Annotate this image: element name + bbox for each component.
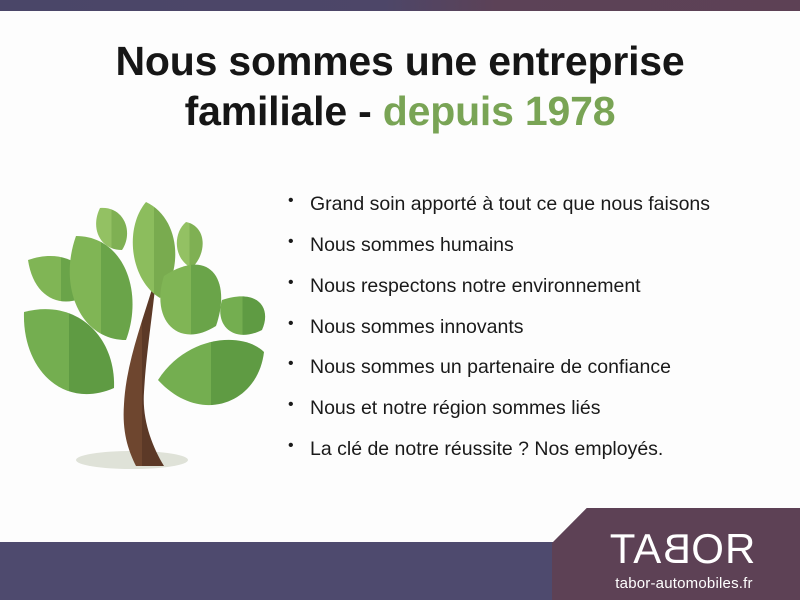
brand-wordmark-reversed-b: B — [662, 528, 691, 570]
list-item: Grand soin apporté à tout ce que nous fa… — [286, 192, 766, 217]
brand-logo-panel[interactable]: TABOR tabor-automobiles.fr — [552, 508, 800, 600]
page-title-line1: Nous sommes une entreprise — [116, 38, 685, 84]
list-item: Nous sommes humains — [286, 233, 766, 258]
list-item: Nous sommes innovants — [286, 315, 766, 340]
brand-wordmark-part2: OR — [691, 528, 756, 570]
tree-illustration — [14, 188, 280, 484]
brand-wordmark-part1: TA — [610, 528, 663, 570]
page-title: Nous sommes une entreprise familiale - d… — [0, 36, 800, 136]
benefits-list: Grand soin apporté à tout ce que nous fa… — [286, 192, 766, 478]
top-accent-bar — [0, 0, 800, 11]
list-item: Nous respectons notre environnement — [286, 274, 766, 299]
page-title-line2: familiale - — [185, 88, 383, 134]
slide-canvas: Nous sommes une entreprise familiale - d… — [0, 0, 800, 600]
brand-wordmark: TABOR — [596, 528, 757, 570]
list-item: Nous et notre région sommes liés — [286, 396, 766, 421]
page-title-accent: depuis 1978 — [383, 88, 616, 134]
list-item: Nous sommes un partenaire de confiance — [286, 355, 766, 380]
brand-website-url[interactable]: tabor-automobiles.fr — [599, 575, 752, 592]
list-item: La clé de notre réussite ? Nos employés. — [286, 437, 766, 462]
